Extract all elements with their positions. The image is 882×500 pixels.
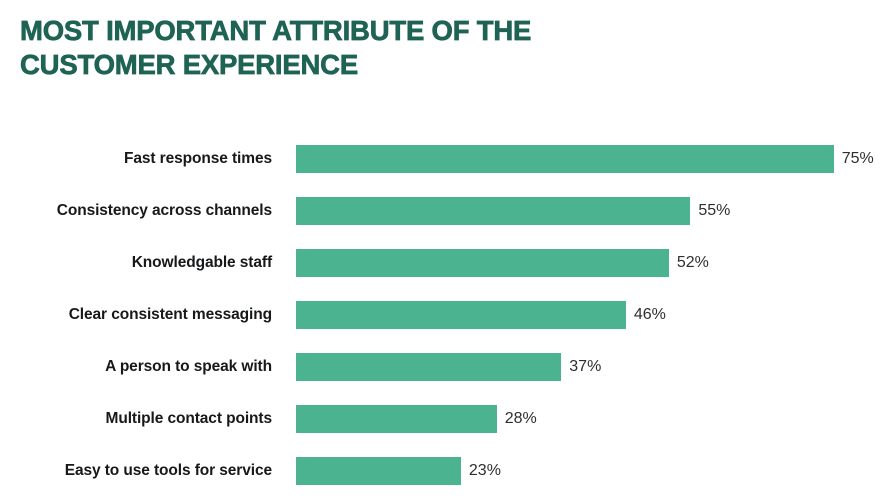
bar-row: Knowledgable staff52%: [0, 249, 882, 277]
bar-category-label: Fast response times: [0, 145, 272, 173]
bar-value-label: 37%: [569, 353, 601, 381]
bar-fill: [296, 301, 626, 329]
bar-value-label: 46%: [634, 301, 666, 329]
bar-category-label: Easy to use tools for service: [0, 457, 272, 485]
bar-row: A person to speak with37%: [0, 353, 882, 381]
bar-track: 28%: [296, 405, 856, 433]
bar-value-label: 28%: [505, 405, 537, 433]
bar-track: 46%: [296, 301, 856, 329]
bar-track: 23%: [296, 457, 856, 485]
bar-chart-plot-area: Fast response times75%Consistency across…: [0, 131, 882, 500]
chart-title: MOST IMPORTANT ATTRIBUTE OF THE CUSTOMER…: [20, 14, 780, 82]
bar-track: 75%: [296, 145, 856, 173]
bar-fill: [296, 457, 461, 485]
bar-category-label: Consistency across channels: [0, 197, 272, 225]
bar-fill: [296, 145, 834, 173]
bar-value-label: 23%: [469, 457, 501, 485]
bar-fill: [296, 405, 497, 433]
bar-value-label: 75%: [842, 145, 874, 173]
bar-value-label: 52%: [677, 249, 709, 277]
bar-track: 52%: [296, 249, 856, 277]
bar-category-label: A person to speak with: [0, 353, 272, 381]
bar-value-label: 55%: [698, 197, 730, 225]
bar-fill: [296, 353, 561, 381]
bar-row: Consistency across channels55%: [0, 197, 882, 225]
bar-row: Multiple contact points28%: [0, 405, 882, 433]
bar-fill: [296, 249, 669, 277]
chart-canvas: MOST IMPORTANT ATTRIBUTE OF THE CUSTOMER…: [0, 0, 882, 500]
bar-row: Easy to use tools for service23%: [0, 457, 882, 485]
bar-category-label: Knowledgable staff: [0, 249, 272, 277]
bar-category-label: Clear consistent messaging: [0, 301, 272, 329]
bar-track: 55%: [296, 197, 856, 225]
bar-row: Fast response times75%: [0, 145, 882, 173]
bar-fill: [296, 197, 690, 225]
bar-track: 37%: [296, 353, 856, 381]
bar-row: Clear consistent messaging46%: [0, 301, 882, 329]
bar-category-label: Multiple contact points: [0, 405, 272, 433]
